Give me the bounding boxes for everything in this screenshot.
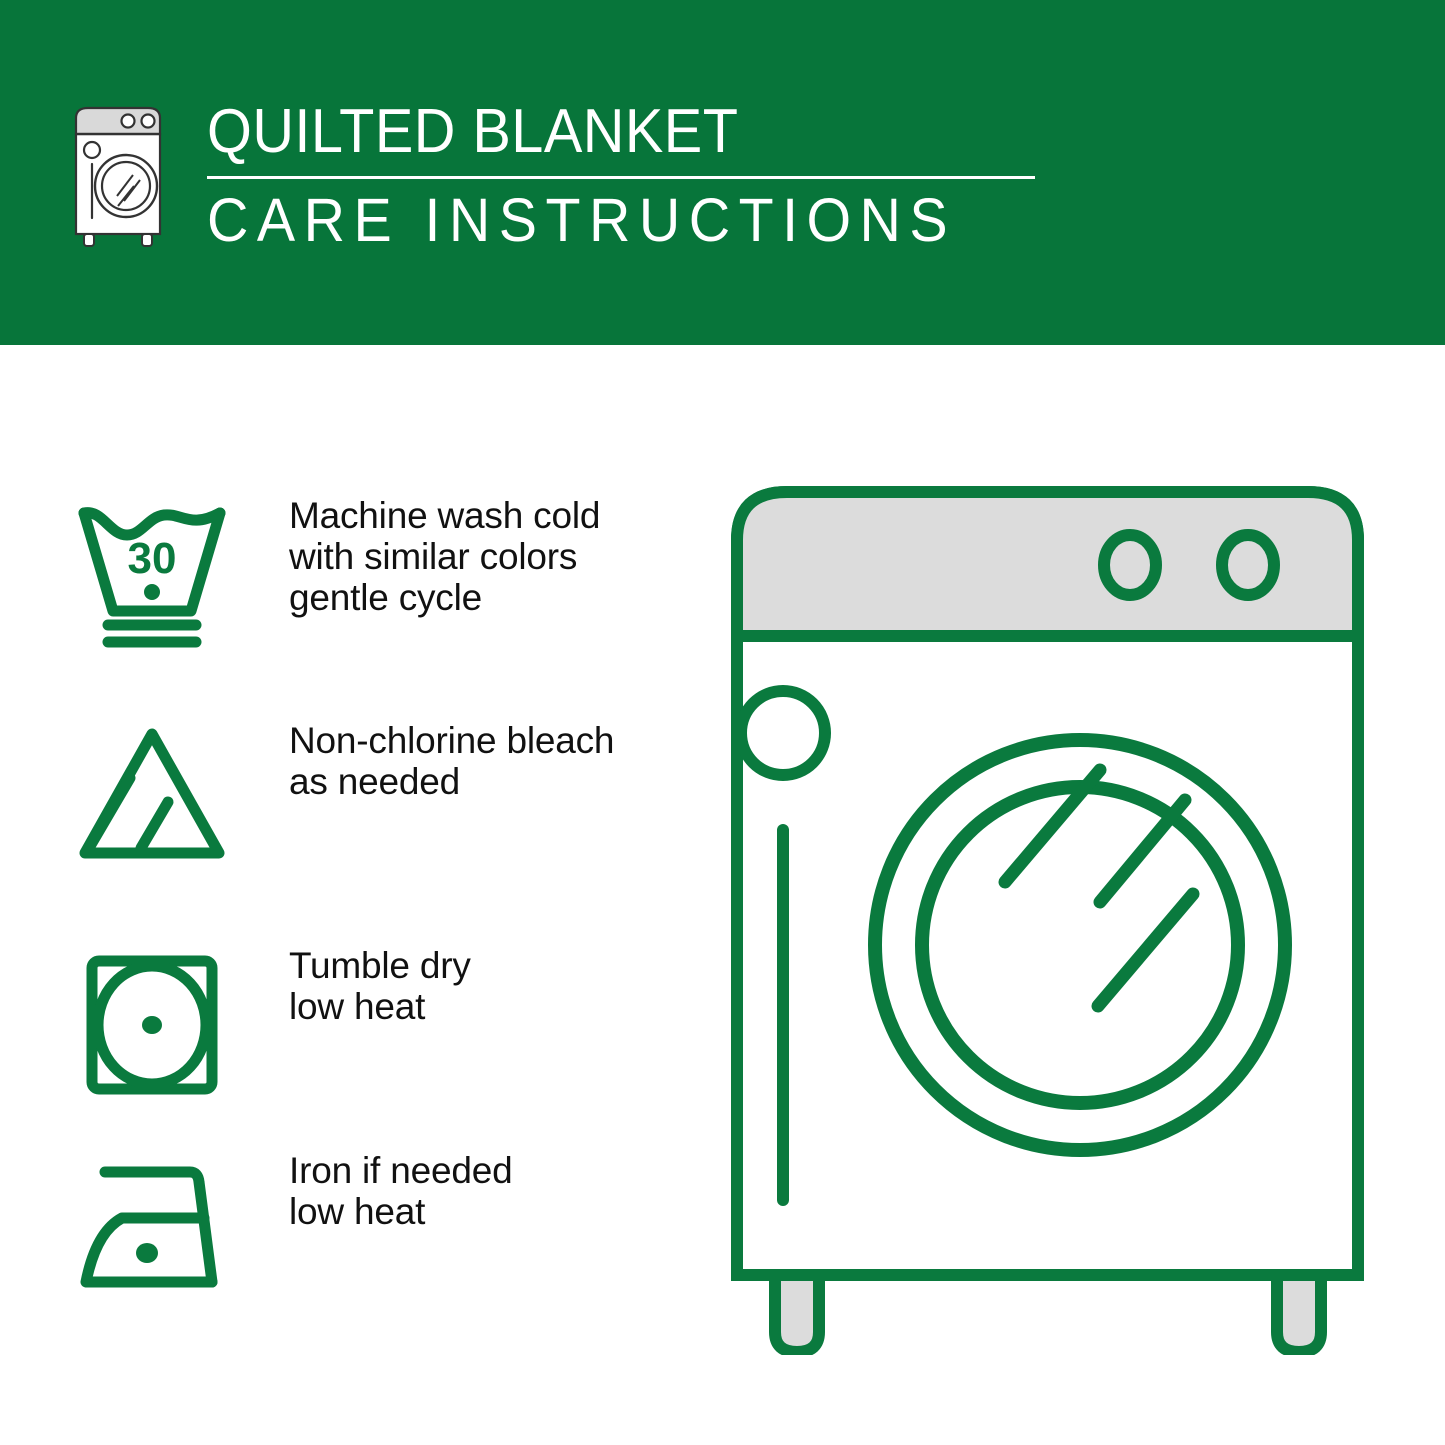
page-title: QUILTED BLANKET bbox=[207, 96, 988, 168]
care-line: Non-chlorine bleach bbox=[289, 720, 689, 761]
washing-machine-logo-icon bbox=[62, 102, 182, 250]
leg-right bbox=[1277, 1275, 1321, 1352]
tumble-dry-icon bbox=[72, 945, 232, 1105]
care-item-text: Tumble dry low heat bbox=[289, 945, 689, 1027]
door-inner-ring bbox=[922, 787, 1238, 1103]
wash-tub-icon: 30 bbox=[72, 495, 232, 655]
knob-left-icon bbox=[1104, 535, 1156, 595]
care-item-text: Iron if needed low heat bbox=[289, 1150, 689, 1232]
care-instructions-page: QUILTED BLANKET CARE INSTRUCTIONS bbox=[0, 0, 1445, 1445]
care-line: as needed bbox=[289, 761, 689, 802]
care-line: low heat bbox=[289, 1191, 689, 1232]
care-line: with similar colors bbox=[289, 536, 689, 577]
care-line: low heat bbox=[289, 986, 689, 1027]
header-content: QUILTED BLANKET CARE INSTRUCTIONS bbox=[62, 96, 1022, 271]
care-line: Tumble dry bbox=[289, 945, 689, 986]
leg-left bbox=[775, 1275, 819, 1352]
header-band: QUILTED BLANKET CARE INSTRUCTIONS bbox=[0, 0, 1445, 345]
bleach-triangle-icon bbox=[72, 720, 232, 880]
care-instructions-list: 30 Machine wash cold with similar colors… bbox=[0, 345, 700, 1445]
care-item-text: Non-chlorine bleach as needed bbox=[289, 720, 689, 802]
door-latch-icon bbox=[741, 691, 825, 775]
header-titles: QUILTED BLANKET CARE INSTRUCTIONS bbox=[207, 96, 1047, 255]
care-line: Machine wash cold bbox=[289, 495, 689, 536]
iron-icon bbox=[72, 1150, 232, 1310]
page-subtitle: CARE INSTRUCTIONS bbox=[207, 185, 997, 255]
care-item-text: Machine wash cold with similar colors ge… bbox=[289, 495, 689, 618]
knob-right-icon bbox=[1222, 535, 1274, 595]
front-load-washing-machine-illustration bbox=[715, 470, 1380, 1355]
care-line: gentle cycle bbox=[289, 577, 689, 618]
care-line: Iron if needed bbox=[289, 1150, 689, 1191]
title-divider bbox=[207, 176, 1035, 179]
wash-temperature-value: 30 bbox=[128, 534, 177, 583]
